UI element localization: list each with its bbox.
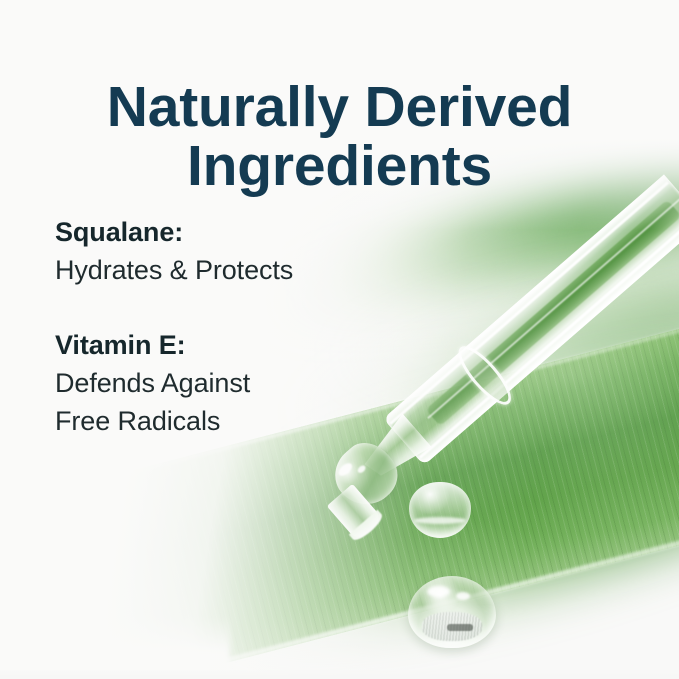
ingredient-item-squalane: Squalane: Hydrates & Protects <box>55 213 385 290</box>
page-title: Naturally Derived Ingredients <box>0 78 679 197</box>
ingredient-item-vitamin-e: Vitamin E: Defends Against Free Radicals <box>55 326 385 441</box>
product-infographic-card: Naturally Derived Ingredients Squalane: … <box>0 0 679 679</box>
ingredient-name: Squalane: <box>55 213 385 251</box>
ingredient-description: Hydrates & Protects <box>55 251 385 289</box>
page-title-line-2: Ingredients <box>0 137 679 196</box>
bottom-white-strip <box>0 670 679 679</box>
droplet-highlight <box>456 592 471 601</box>
water-droplet-on-leaf <box>408 576 496 648</box>
droplet-dark-reflection <box>447 624 473 632</box>
droplet-highlight <box>427 586 450 597</box>
ingredient-name: Vitamin E: <box>55 326 385 364</box>
ingredient-list: Squalane: Hydrates & Protects Vitamin E:… <box>55 213 385 441</box>
falling-droplet <box>409 482 471 538</box>
ingredient-description: Defends Against Free Radicals <box>55 364 385 441</box>
page-title-line-1: Naturally Derived <box>0 78 679 137</box>
